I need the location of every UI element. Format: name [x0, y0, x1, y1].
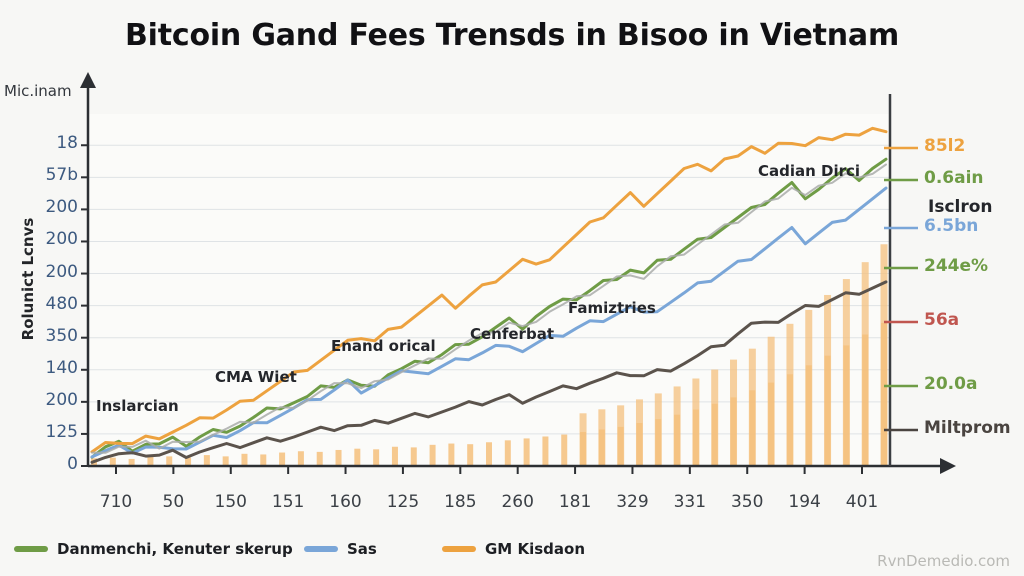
right-annotation: 85l2 [924, 136, 965, 156]
right-annotation: Isclron [928, 197, 993, 217]
plot-annotation: Famiztries [568, 299, 656, 317]
right-annotation: 56a [924, 310, 959, 330]
legend-label: Sas [347, 540, 377, 558]
right-annotation: 6.5bn [924, 216, 978, 236]
legend-item[interactable]: GM Kisdaon [442, 538, 585, 560]
right-annotation: 0.6ain [924, 168, 984, 188]
plot-area [0, 0, 1024, 576]
right-annotation: 20.0a [924, 374, 977, 394]
legend-label: GM Kisdaon [485, 540, 585, 558]
chart-root: Bitcoin Gand Fees Trensds in Bisoo in Vi… [0, 0, 1024, 576]
plot-annotation: CMA Wiet [215, 368, 297, 386]
right-annotation: Miltprom [924, 418, 1011, 438]
plot-annotation: Cadian Dirci [758, 162, 860, 180]
right-annotation: 244e% [924, 256, 988, 276]
legend-color-swatch [14, 546, 48, 552]
watermark: RvnDemedio.com [877, 552, 1010, 570]
legend-item[interactable]: Danmenchi, Kenuter skerup [14, 538, 293, 560]
legend-color-swatch [304, 546, 338, 552]
legend-label: Danmenchi, Kenuter skerup [57, 540, 293, 558]
plot-annotation: Cenferbat [470, 325, 554, 343]
legend-color-swatch [442, 546, 476, 552]
plot-annotation: Inslarcian [96, 397, 179, 415]
plot-annotation: Enand orical [331, 337, 436, 355]
legend-item[interactable]: Sas [304, 538, 377, 560]
